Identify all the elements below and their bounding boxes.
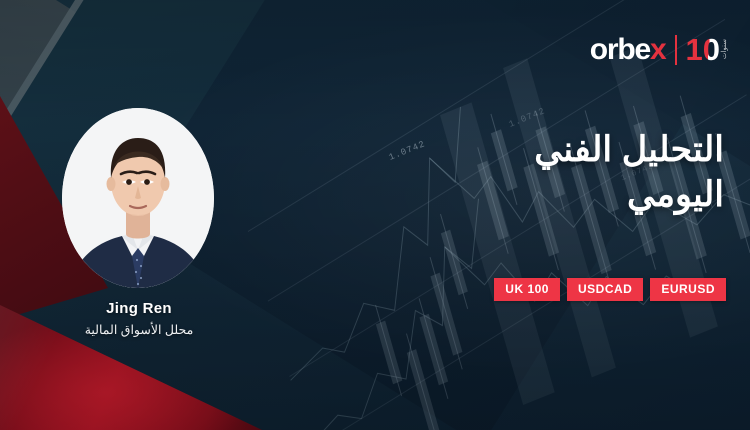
status-badge[interactable]: EURUSD bbox=[650, 278, 726, 301]
presenter-role: محلل الأسواق المالية bbox=[0, 322, 278, 339]
status-badge[interactable]: USDCAD bbox=[567, 278, 643, 301]
logo-wordmark: orbex bbox=[590, 35, 666, 65]
avatar bbox=[62, 108, 214, 288]
anniversary-digit-one: 1 bbox=[686, 34, 702, 65]
logo-wordmark-accent: x bbox=[650, 33, 666, 66]
headline-line-1: التحليل الفني bbox=[534, 130, 724, 169]
orbex-logo[interactable]: orbex 1 0 سنوات bbox=[590, 34, 728, 65]
instrument-badges: UK 100 USDCAD EURUSD bbox=[494, 278, 726, 301]
anniversary-digit-zero: 0 bbox=[703, 34, 719, 65]
logo-anniversary: 1 0 سنوات bbox=[686, 34, 729, 65]
presenter-block: Jing Ren محلل الأسواق المالية bbox=[0, 300, 278, 339]
presenter-name: Jing Ren bbox=[0, 300, 278, 318]
page-title: التحليل الفني اليومي bbox=[294, 128, 724, 218]
anniversary-arabic-label: سنوات bbox=[721, 39, 728, 59]
headline-line-2: اليومي bbox=[294, 173, 724, 218]
logo-divider bbox=[675, 35, 677, 65]
status-badge[interactable]: UK 100 bbox=[494, 278, 560, 301]
logo-wordmark-main: orbe bbox=[590, 33, 650, 66]
promo-banner: 1.0742 1.0742 1.0742 bbox=[0, 0, 750, 430]
